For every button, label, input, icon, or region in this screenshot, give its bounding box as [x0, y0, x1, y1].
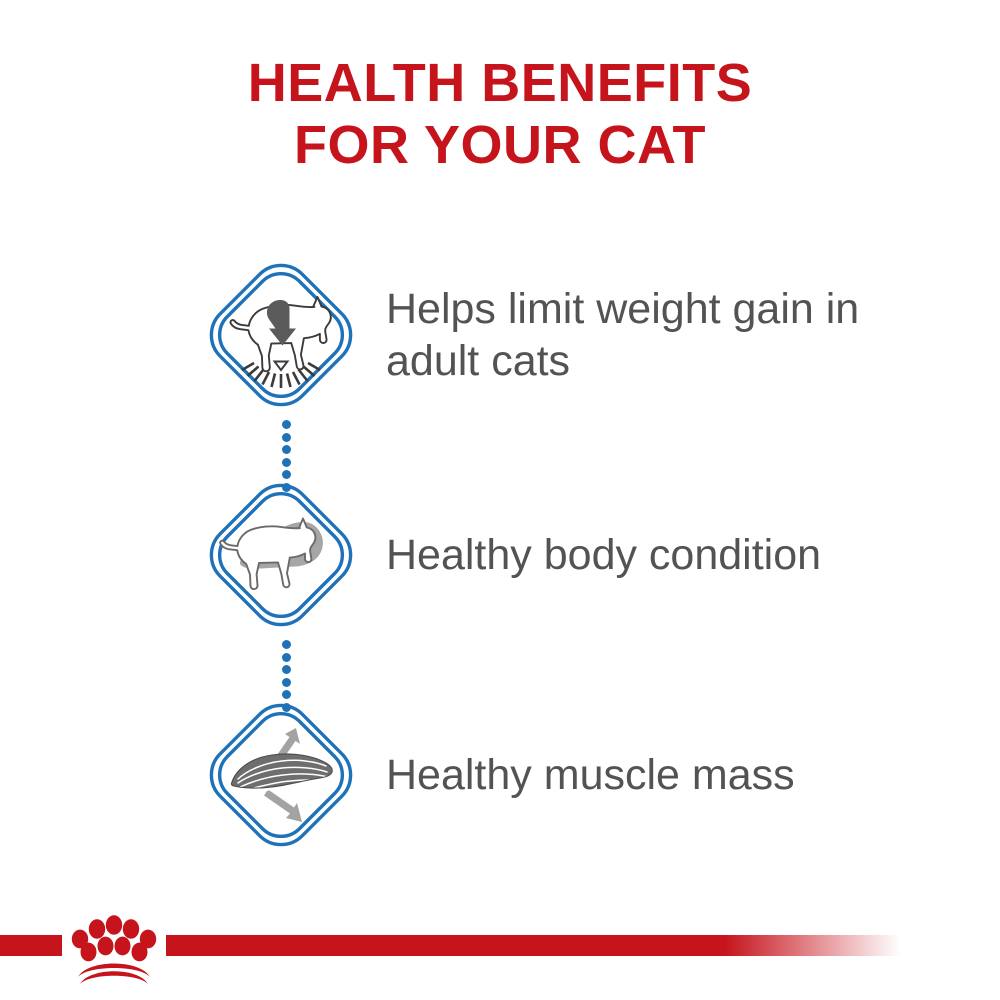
royal-canin-crown-icon: [62, 905, 166, 985]
connector-dot: [282, 678, 291, 687]
benefit-label-weight: Helps limit weight gain in adult cats: [386, 283, 886, 387]
connector-dot: [282, 665, 291, 674]
connector-dot: [282, 483, 291, 492]
benefit-item-muscle-mass: Healthy muscle mass: [196, 690, 916, 860]
title-line-1: HEALTH BENEFITS: [0, 52, 1000, 114]
title-line-2: FOR YOUR CAT: [0, 114, 1000, 176]
page-title: HEALTH BENEFITS FOR YOUR CAT: [0, 52, 1000, 176]
cat-on-scale-weight-down-icon: [196, 250, 366, 420]
footer-bar-right: [166, 935, 1000, 956]
benefit-label-body-condition: Healthy body condition: [386, 529, 821, 581]
connector-dots-1: [282, 420, 291, 492]
footer-bar-left: [0, 935, 62, 956]
benefits-list: Helps limit weight gain in adult cats He…: [196, 250, 916, 860]
benefit-item-weight: Helps limit weight gain in adult cats: [196, 250, 916, 420]
connector-dot: [282, 458, 291, 467]
connector-dot: [282, 640, 291, 649]
muscle-fiber-arrows-icon: [196, 690, 366, 860]
connector-dot: [282, 690, 291, 699]
connector-dot: [282, 445, 291, 454]
connector-dot: [282, 433, 291, 442]
benefit-label-muscle-mass: Healthy muscle mass: [386, 749, 795, 801]
connector-dot: [282, 653, 291, 662]
cat-body-condition-icon: [196, 470, 366, 640]
connector-dot: [282, 470, 291, 479]
connector-dot: [282, 703, 291, 712]
connector-dots-2: [282, 640, 291, 712]
footer: [0, 900, 1000, 1000]
connector-dot: [282, 420, 291, 429]
benefit-item-body-condition: Healthy body condition: [196, 470, 916, 640]
